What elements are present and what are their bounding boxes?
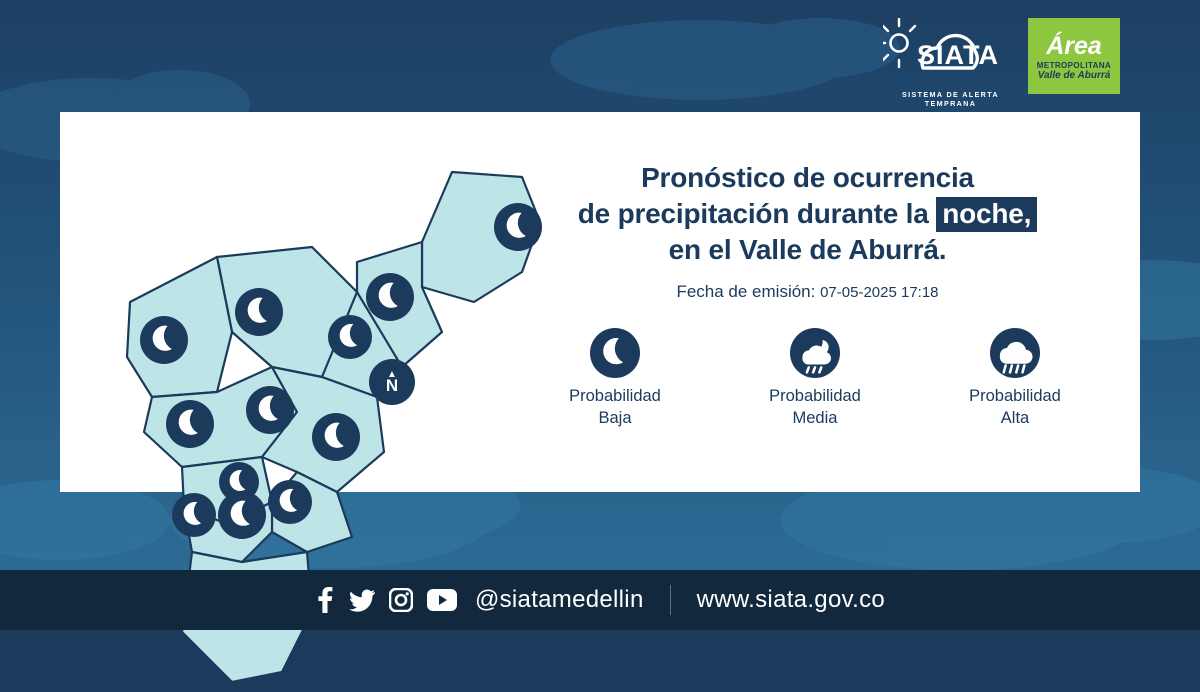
probability-legend: Probabilidad Baja Probabilidad Media Pro… bbox=[515, 327, 1115, 429]
map-marker-bello bbox=[166, 400, 214, 448]
legend-label-media-line2: Media bbox=[730, 407, 900, 429]
headline-block: Pronóstico de ocurrencia de precipitació… bbox=[485, 160, 1130, 302]
legend-label-media-line1: Probabilidad bbox=[730, 385, 900, 407]
facebook-icon[interactable] bbox=[315, 587, 335, 613]
headline-highlight: noche, bbox=[936, 197, 1037, 232]
headline-line-2: de precipitación durante la noche, bbox=[485, 196, 1130, 232]
moon-icon bbox=[366, 273, 414, 321]
website-url[interactable]: www.siata.gov.co bbox=[697, 586, 885, 614]
legend-label-alta-line2: Alta bbox=[930, 407, 1100, 429]
siata-logo: SIATA SISTEMA DE ALERTA TEMPRANA bbox=[883, 18, 1018, 106]
siata-wordmark: SIATA bbox=[917, 40, 999, 71]
legend-item-media: Probabilidad Media bbox=[730, 327, 900, 429]
legend-label-baja-line2: Baja bbox=[530, 407, 700, 429]
youtube-icon[interactable] bbox=[427, 589, 457, 611]
map-marker-san-pedro bbox=[235, 288, 283, 336]
footer-bar: @siatamedellin www.siata.gov.co bbox=[0, 570, 1200, 630]
moon-icon bbox=[530, 327, 700, 379]
moon-icon bbox=[328, 315, 372, 359]
map-marker-girardota bbox=[366, 273, 414, 321]
area-wordmark: Área bbox=[1046, 33, 1102, 59]
social-icons bbox=[315, 587, 457, 613]
headline-line-3: en el Valle de Aburrá. bbox=[485, 232, 1130, 268]
moon-icon bbox=[268, 480, 312, 524]
moon-icon bbox=[235, 288, 283, 336]
footer-divider bbox=[670, 585, 671, 615]
siata-tagline: SISTEMA DE ALERTA TEMPRANA bbox=[883, 90, 1018, 108]
headline-line-2-text: de precipitación durante la bbox=[578, 198, 929, 229]
moon-icon bbox=[218, 491, 266, 539]
area-line1: METROPOLITANA bbox=[1037, 61, 1111, 70]
legend-label-alta-line1: Probabilidad bbox=[930, 385, 1100, 407]
content-card: ▲ N Pronóstico de ocurrencia de precipit… bbox=[60, 112, 1140, 492]
legend-item-baja: Probabilidad Baja bbox=[530, 327, 700, 429]
social-handle[interactable]: @siatamedellin bbox=[475, 586, 644, 614]
map-marker-medellin-norte bbox=[246, 386, 294, 434]
instagram-icon[interactable] bbox=[389, 588, 413, 612]
heavy-rain-cloud-icon bbox=[930, 327, 1100, 379]
moon-icon bbox=[140, 316, 188, 364]
emission-date: Fecha de emisión: 07-05-2025 17:18 bbox=[485, 282, 1130, 302]
headline-line-1: Pronóstico de ocurrencia bbox=[485, 160, 1130, 196]
map-marker-medellin bbox=[312, 413, 360, 461]
legend-item-alta: Probabilidad Alta bbox=[930, 327, 1100, 429]
area-line2: Valle de Aburrá bbox=[1038, 70, 1111, 81]
logo-area: SIATA SISTEMA DE ALERTA TEMPRANA Área ME… bbox=[883, 18, 1120, 106]
rain-cloud-moon-icon bbox=[730, 327, 900, 379]
moon-icon bbox=[166, 400, 214, 448]
emission-label: Fecha de emisión: bbox=[676, 282, 815, 301]
map-marker-bello-norte bbox=[140, 316, 188, 364]
map-marker-copacabana bbox=[328, 315, 372, 359]
twitter-icon[interactable] bbox=[349, 587, 375, 613]
map-marker-la-estrella bbox=[172, 493, 216, 537]
map-marker-sabaneta bbox=[218, 491, 266, 539]
legend-label-baja-line1: Probabilidad bbox=[530, 385, 700, 407]
moon-icon bbox=[246, 386, 294, 434]
map-marker-envigado bbox=[268, 480, 312, 524]
compass-north-icon: ▲ N bbox=[369, 359, 415, 405]
emission-value: 07-05-2025 17:18 bbox=[820, 284, 938, 301]
moon-icon bbox=[172, 493, 216, 537]
area-metropolitana-logo: Área METROPOLITANA Valle de Aburrá bbox=[1028, 18, 1120, 94]
compass-label: N bbox=[386, 379, 398, 393]
moon-icon bbox=[312, 413, 360, 461]
